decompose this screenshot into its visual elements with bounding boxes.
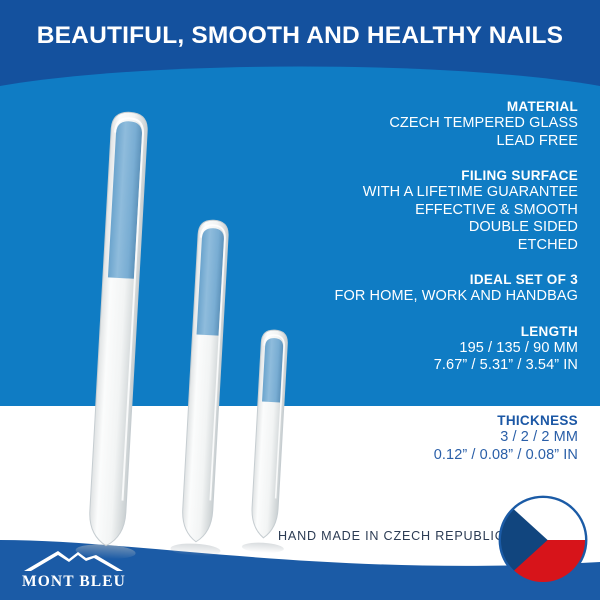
mountain-icon — [22, 546, 126, 573]
spec-line: 195 / 135 / 90 MM — [248, 340, 578, 358]
spec-block-material: MATERIAL CZECH TEMPERED GLASS LEAD FREE — [248, 98, 578, 150]
brand-name: MONT BLEU — [14, 574, 134, 590]
spec-heading-ideal-set: IDEAL SET OF 3 — [248, 271, 578, 288]
spec-line: FOR HOME, WORK AND HANDBAG — [248, 288, 578, 306]
spec-block-ideal-set: IDEAL SET OF 3 FOR HOME, WORK AND HANDBA… — [248, 271, 578, 306]
spec-line: DOUBLE SIDED — [248, 219, 578, 237]
hand-made-label: HAND MADE IN CZECH REPUBLIC — [278, 529, 505, 543]
specs-list-on-white: THICKNESS 3 / 2 / 2 MM 0.12” / 0.08” / 0… — [248, 412, 578, 464]
spec-heading-material: MATERIAL — [248, 98, 578, 115]
specs-list-on-blue: MATERIAL CZECH TEMPERED GLASS LEAD FREE … — [248, 98, 578, 375]
spec-line: 7.67” / 5.31” / 3.54” IN — [248, 357, 578, 375]
brand-logo: MONT BLEU — [14, 546, 134, 590]
czech-republic-flag-icon — [497, 494, 589, 586]
spec-block-filing-surface: FILING SURFACE WITH A LIFETIME GUARANTEE… — [248, 167, 578, 254]
spec-block-length: LENGTH 195 / 135 / 90 MM 7.67” / 5.31” /… — [248, 323, 578, 375]
spec-heading-thickness: THICKNESS — [248, 412, 578, 429]
page-title: BEAUTIFUL, SMOOTH AND HEALTHY NAILS — [0, 22, 600, 50]
spec-line: LEAD FREE — [248, 133, 578, 151]
spec-line: 3 / 2 / 2 MM — [248, 429, 578, 447]
spec-line: 0.12” / 0.08” / 0.08” IN — [248, 447, 578, 465]
product-infographic-poster: BEAUTIFUL, SMOOTH AND HEALTHY NAILS MATE… — [0, 0, 600, 600]
spec-block-thickness: THICKNESS 3 / 2 / 2 MM 0.12” / 0.08” / 0… — [248, 412, 578, 464]
spec-heading-filing-surface: FILING SURFACE — [248, 167, 578, 184]
spec-heading-length: LENGTH — [248, 323, 578, 340]
spec-line: ETCHED — [248, 237, 578, 255]
spec-line: EFFECTIVE & SMOOTH — [248, 202, 578, 220]
spec-line: CZECH TEMPERED GLASS — [248, 115, 578, 133]
spec-line: WITH A LIFETIME GUARANTEE — [248, 184, 578, 202]
